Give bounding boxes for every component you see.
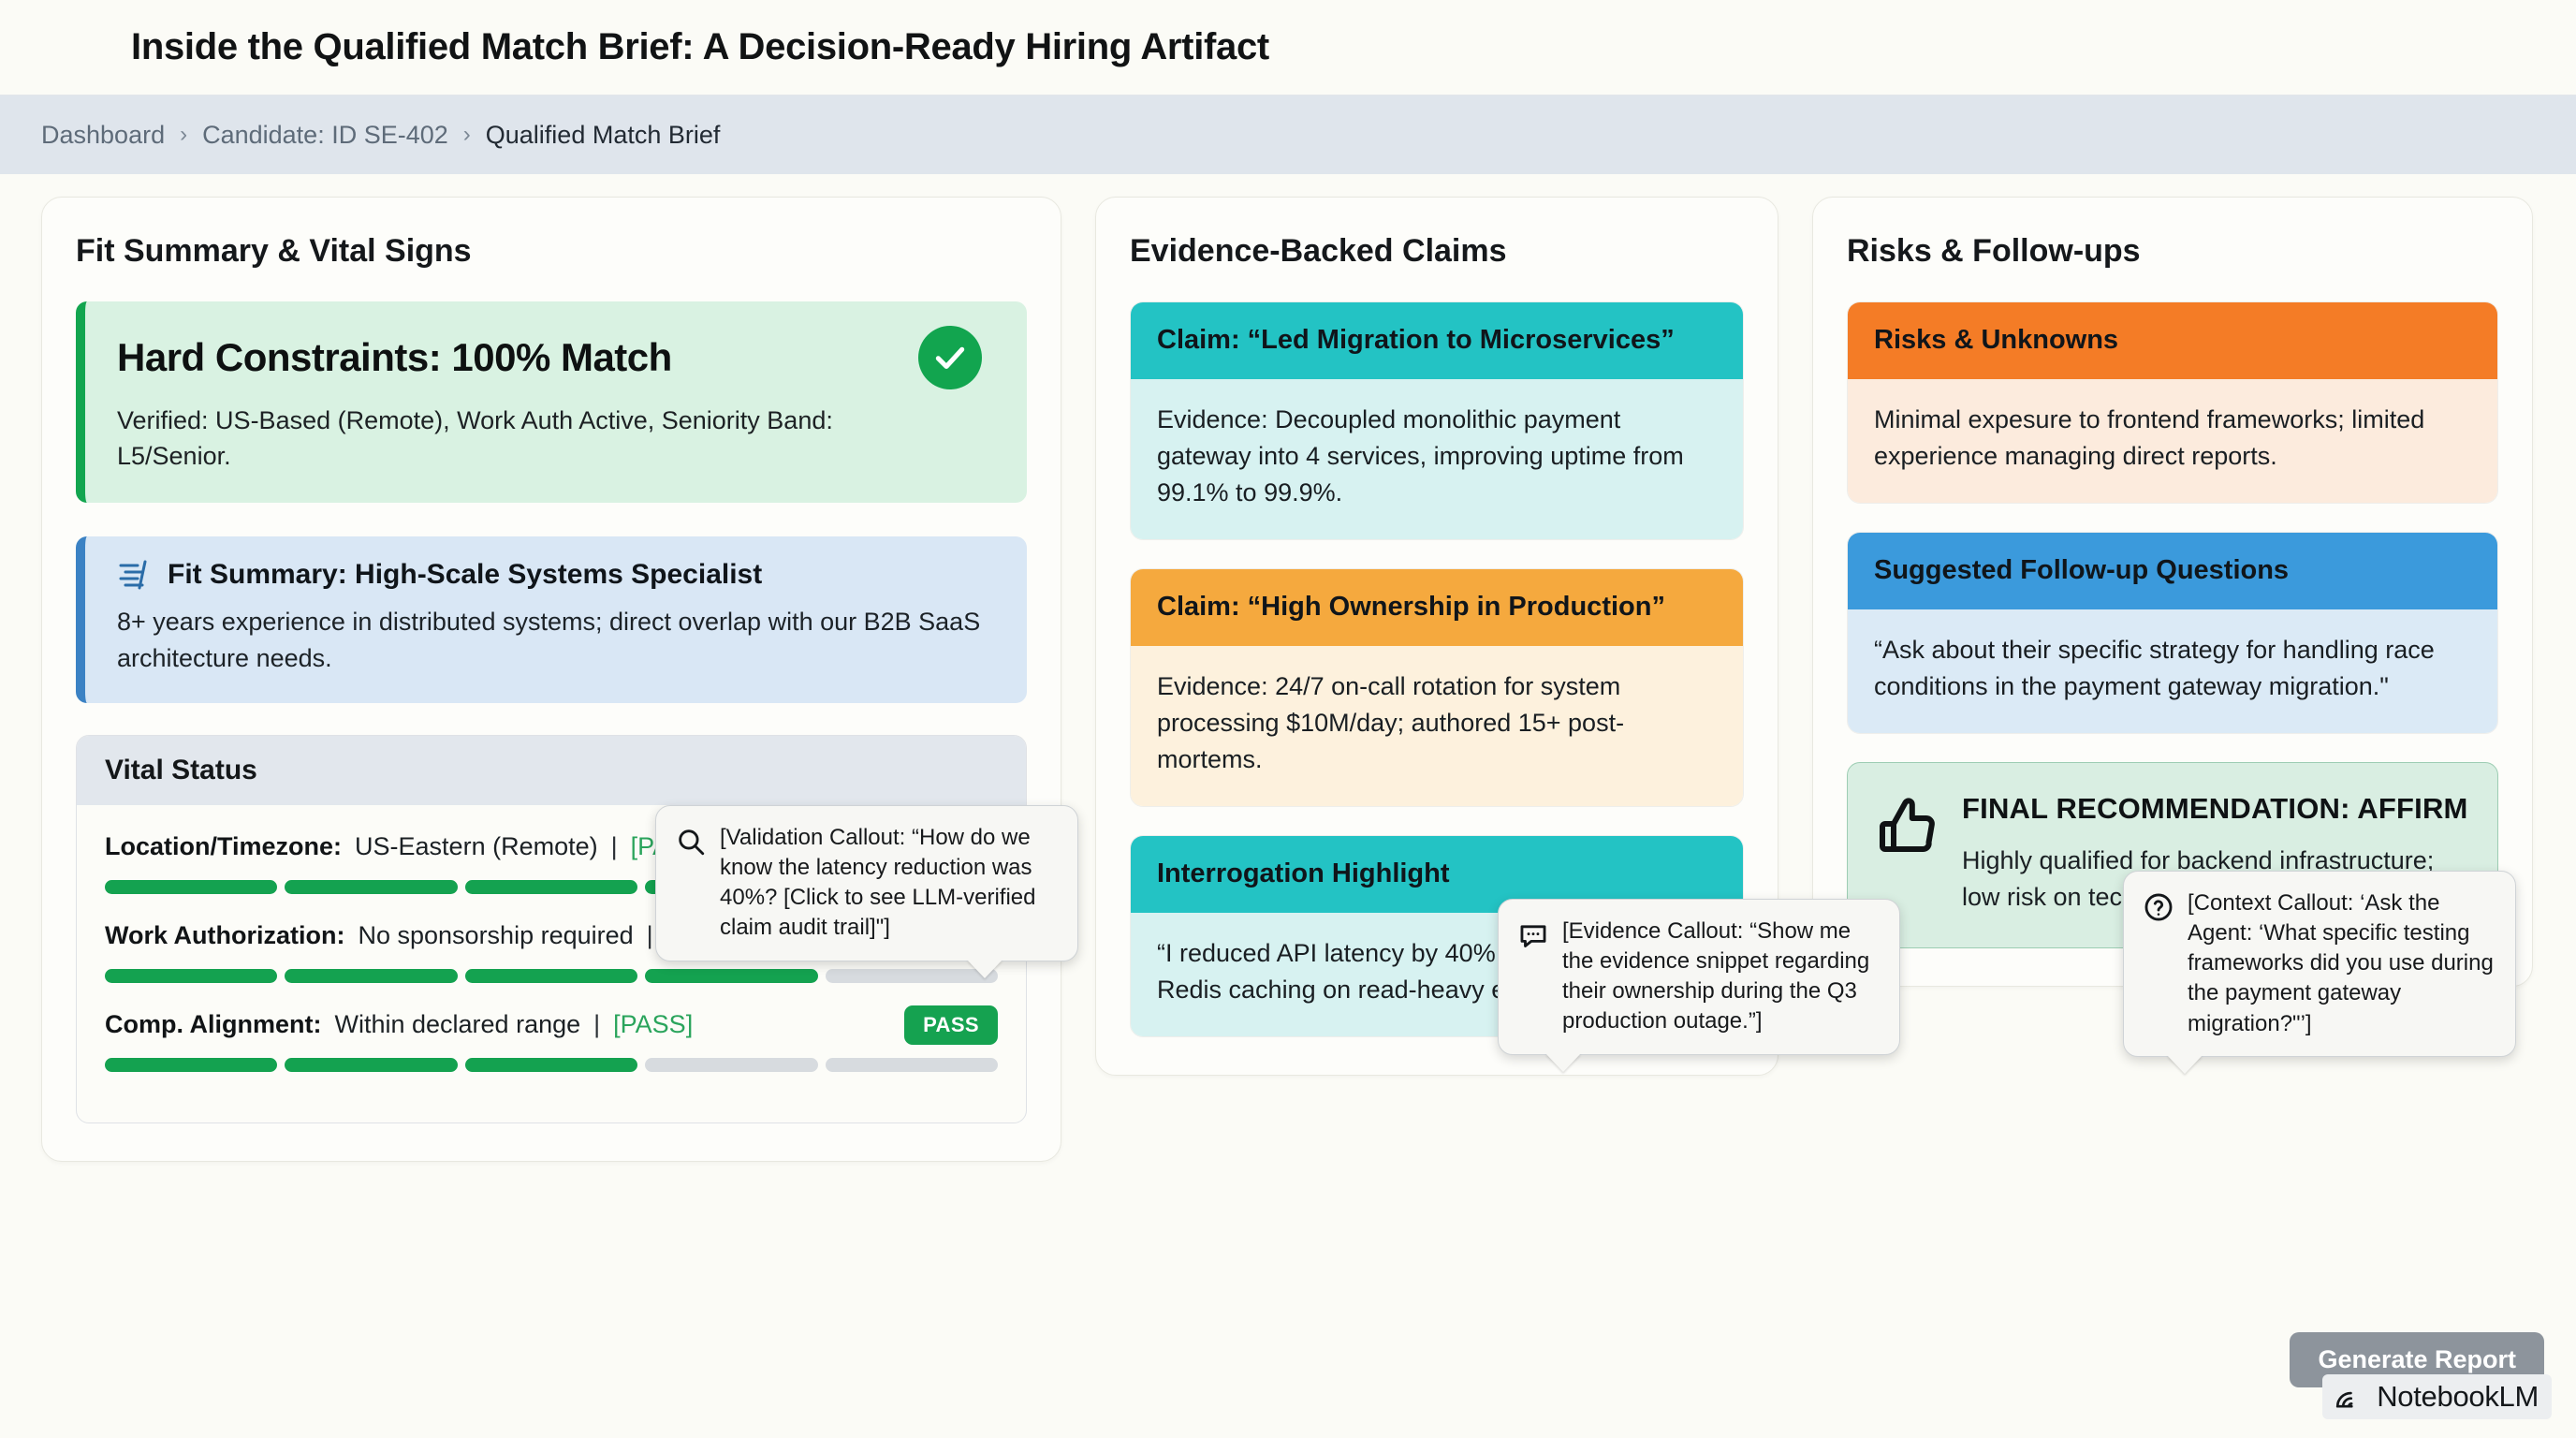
progress-segment (105, 969, 277, 983)
evidence-callout[interactable]: [Evidence Callout: “Show me the evidence… (1498, 899, 1900, 1055)
vital-row-line: Comp. Alignment: Within declared range |… (105, 1005, 998, 1045)
vital-row-progress (105, 1058, 998, 1072)
progress-segment (285, 880, 457, 894)
risks-unknowns-heading: Risks & Unknowns (1848, 302, 2497, 379)
vital-row-label: Location/Timezone: (105, 832, 342, 861)
vital-row-value: US-Eastern (Remote) (355, 832, 598, 861)
validation-callout-text: [Validation Callout: “How do we know the… (720, 823, 1059, 944)
context-callout-text: [Context Callout: ‘Ask the Agent: ‘What … (2188, 888, 2496, 1039)
validation-callout[interactable]: [Validation Callout: “How do we know the… (655, 805, 1078, 961)
risks-unknowns-body: Minimal expesure to frontend frameworks;… (1848, 379, 2497, 503)
brand-name: NotebookLM (2377, 1380, 2539, 1414)
progress-segment (285, 969, 457, 983)
breadcrumb-item-dashboard[interactable]: Dashboard (41, 121, 165, 150)
vital-status-title: Vital Status (105, 755, 998, 786)
chat-bubble-icon (1517, 919, 1549, 951)
fit-summary-header: Fit Summary: High-Scale Systems Speciali… (117, 559, 995, 591)
column-fit-summary: Fit Summary & Vital Signs Hard Constrain… (41, 197, 1061, 1162)
progress-segment (105, 1058, 277, 1072)
fit-summary-card: Fit Summary: High-Scale Systems Speciali… (76, 536, 1027, 703)
column-title-risks-followups: Risks & Follow-ups (1847, 233, 2498, 270)
claim-card-ownership[interactable]: Claim: “High Ownership in Production” Ev… (1130, 568, 1744, 807)
context-callout[interactable]: [Context Callout: ‘Ask the Agent: ‘What … (2123, 871, 2516, 1057)
vital-row: Comp. Alignment: Within declared range |… (105, 1005, 998, 1072)
claim-card-microservices[interactable]: Claim: “Led Migration to Microservices” … (1130, 301, 1744, 540)
hard-constraints-detail: Verified: US-Based (Remote), Work Auth A… (117, 403, 866, 475)
callout-tail (2167, 1055, 2203, 1074)
column-title-fit-summary: Fit Summary & Vital Signs (76, 233, 1027, 270)
progress-segment (645, 1058, 817, 1072)
vital-row-value: Within declared range (334, 1010, 580, 1039)
breadcrumb-item-candidate[interactable]: Candidate: ID SE-402 (202, 121, 448, 150)
status-badge: PASS (904, 1005, 998, 1045)
progress-segment (465, 969, 637, 983)
page-header: Inside the Qualified Match Brief: A Deci… (0, 0, 2576, 95)
vital-row-divider: | (611, 832, 618, 861)
hard-constraints-title: Hard Constraints: 100% Match (117, 335, 672, 380)
vital-row-divider: | (593, 1010, 600, 1039)
hard-constraints-card: Hard Constraints: 100% Match Verified: U… (76, 301, 1027, 503)
progress-segment (645, 969, 817, 983)
vital-status-header: Vital Status (77, 736, 1026, 805)
thumbs-up-icon (1874, 793, 1941, 860)
breadcrumb: Dashboard › Candidate: ID SE-402 › Quali… (0, 95, 2576, 174)
brand-badge: NotebookLM (2322, 1374, 2552, 1419)
fit-summary-title: Fit Summary: High-Scale Systems Speciali… (168, 559, 762, 591)
progress-segment (826, 1058, 998, 1072)
vital-row-divider: | (647, 921, 653, 950)
risks-unknowns-card[interactable]: Risks & Unknowns Minimal expesure to fro… (1847, 301, 2498, 504)
notebooklm-logo-icon (2334, 1381, 2365, 1413)
vital-row-inline-status: [PASS] (613, 1010, 693, 1039)
vital-row-label: Work Authorization: (105, 921, 344, 950)
vital-row-value: No sponsorship required (358, 921, 633, 950)
vital-row-label: Comp. Alignment: (105, 1010, 321, 1039)
progress-segment (465, 880, 637, 894)
claim-card-body: Evidence: 24/7 on-call rotation for syst… (1131, 646, 1743, 806)
vital-row-progress (105, 969, 998, 983)
callout-tail (967, 960, 1003, 978)
followup-questions-card[interactable]: Suggested Follow-up Questions “Ask about… (1847, 532, 2498, 734)
claim-card-body: Evidence: Decoupled monolithic payment g… (1131, 379, 1743, 539)
footer: Generate Report NotebookLM (2290, 1332, 2544, 1419)
column-title-evidence-claims: Evidence-Backed Claims (1130, 233, 1744, 270)
progress-segment (285, 1058, 457, 1072)
breadcrumb-item-current: Qualified Match Brief (486, 121, 721, 150)
chevron-right-icon: › (463, 124, 471, 146)
final-recommendation-title: FINAL RECOMMENDATION: AFFIRM (1962, 791, 2471, 826)
page-title: Inside the Qualified Match Brief: A Deci… (131, 26, 1269, 68)
progress-segment (465, 1058, 637, 1072)
evidence-callout-text: [Evidence Callout: “Show me the evidence… (1562, 917, 1881, 1037)
claim-card-heading: Claim: “High Ownership in Production” (1131, 569, 1743, 646)
chevron-right-icon: › (180, 124, 187, 146)
callout-tail (1545, 1053, 1581, 1072)
fit-summary-body: 8+ years experience in distributed syste… (117, 604, 995, 677)
followup-questions-body: “Ask about their specific strategy for h… (1848, 609, 2497, 733)
search-icon (675, 826, 707, 858)
column-risks-followups: Risks & Follow-ups Risks & Unknowns Mini… (1812, 197, 2533, 987)
claim-card-heading: Claim: “Led Migration to Microservices” (1131, 302, 1743, 379)
progress-segment (105, 880, 277, 894)
question-circle-icon (2143, 891, 2174, 923)
followup-questions-heading: Suggested Follow-up Questions (1848, 533, 2497, 609)
check-circle-icon (918, 326, 982, 389)
fit-lines-icon (117, 559, 153, 591)
hard-constraints-header: Hard Constraints: 100% Match (117, 326, 995, 389)
